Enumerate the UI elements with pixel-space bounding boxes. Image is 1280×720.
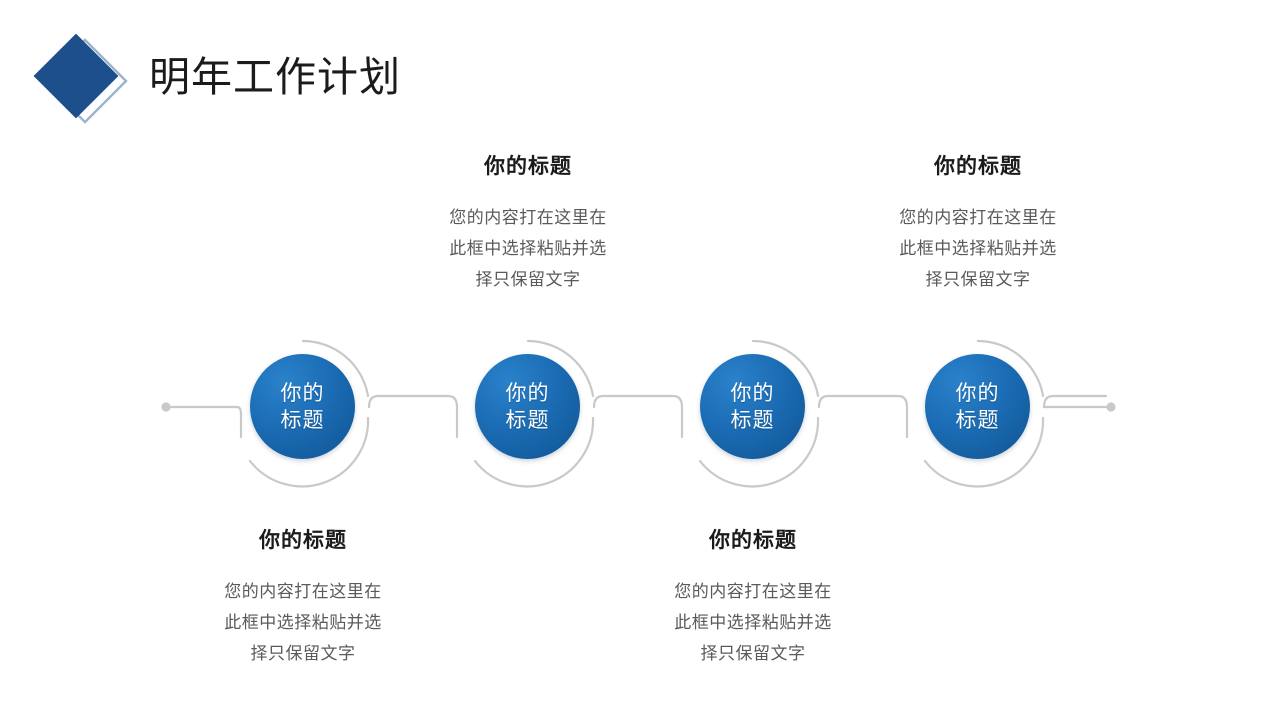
flow-node-1-label: 你的 标题 — [273, 380, 333, 434]
text-block-top-2-body-line2: 此框中选择粘贴并选 — [870, 233, 1086, 264]
slide-header: 明年工作计划 — [0, 0, 1280, 150]
text-block-top-2: 你的标题 您的内容打在这里在 此框中选择粘贴并选 择只保留文字 — [848, 150, 1108, 295]
text-block-bottom-2-title: 你的标题 — [623, 524, 883, 554]
flow-node-1-label-line2: 标题 — [281, 408, 325, 432]
text-block-top-1-body-line1: 您的内容打在这里在 — [420, 202, 636, 233]
text-block-bottom-2-body-line2: 此框中选择粘贴并选 — [645, 607, 861, 638]
text-block-top-2-body-line3: 择只保留文字 — [870, 264, 1086, 295]
text-block-top-1-body-line2: 此框中选择粘贴并选 — [420, 233, 636, 264]
text-block-bottom-2-body-line3: 择只保留文字 — [645, 638, 861, 669]
flow-node-4[interactable]: 你的 标题 — [925, 354, 1030, 459]
text-block-bottom-1-body-line3: 择只保留文字 — [195, 638, 411, 669]
text-block-top-1-body: 您的内容打在这里在 此框中选择粘贴并选 择只保留文字 — [398, 202, 658, 295]
slide-canvas: 明年工作计划 — [0, 0, 1280, 720]
text-block-top-1-title: 你的标题 — [398, 150, 658, 180]
connector-start-dot — [161, 402, 170, 411]
text-block-bottom-1: 你的标题 您的内容打在这里在 此框中选择粘贴并选 择只保留文字 — [173, 524, 433, 669]
flow-node-4-label: 你的 标题 — [948, 380, 1008, 434]
diamond-decoration-icon — [30, 28, 132, 130]
flow-node-1-label-line1: 你的 — [281, 381, 325, 405]
text-block-bottom-2-body: 您的内容打在这里在 此框中选择粘贴并选 择只保留文字 — [623, 576, 883, 669]
text-block-bottom-1-body: 您的内容打在这里在 此框中选择粘贴并选 择只保留文字 — [173, 576, 433, 669]
flow-node-2-label: 你的 标题 — [498, 380, 558, 434]
flow-node-4-label-line1: 你的 — [956, 381, 1000, 405]
flow-node-2-label-line1: 你的 — [506, 381, 550, 405]
text-block-bottom-2-body-line1: 您的内容打在这里在 — [645, 576, 861, 607]
flow-node-2[interactable]: 你的 标题 — [475, 354, 580, 459]
flow-node-2-label-line2: 标题 — [506, 408, 550, 432]
text-block-top-2-body: 您的内容打在这里在 此框中选择粘贴并选 择只保留文字 — [848, 202, 1108, 295]
text-block-bottom-1-title: 你的标题 — [173, 524, 433, 554]
text-block-bottom-2: 你的标题 您的内容打在这里在 此框中选择粘贴并选 择只保留文字 — [623, 524, 883, 669]
flow-node-3[interactable]: 你的 标题 — [700, 354, 805, 459]
text-block-top-2-title: 你的标题 — [848, 150, 1108, 180]
flow-node-4-label-line2: 标题 — [956, 408, 1000, 432]
flow-node-3-label: 你的 标题 — [723, 380, 783, 434]
flow-node-3-label-line1: 你的 — [731, 381, 775, 405]
text-block-bottom-1-body-line1: 您的内容打在这里在 — [195, 576, 411, 607]
flow-node-1[interactable]: 你的 标题 — [250, 354, 355, 459]
flow-node-3-label-line2: 标题 — [731, 408, 775, 432]
text-block-top-2-body-line1: 您的内容打在这里在 — [870, 202, 1086, 233]
text-block-top-1: 你的标题 您的内容打在这里在 此框中选择粘贴并选 择只保留文字 — [398, 150, 658, 295]
page-title: 明年工作计划 — [149, 48, 401, 106]
connector-end-dot — [1106, 402, 1115, 411]
text-block-bottom-1-body-line2: 此框中选择粘贴并选 — [195, 607, 411, 638]
text-block-top-1-body-line3: 择只保留文字 — [420, 264, 636, 295]
